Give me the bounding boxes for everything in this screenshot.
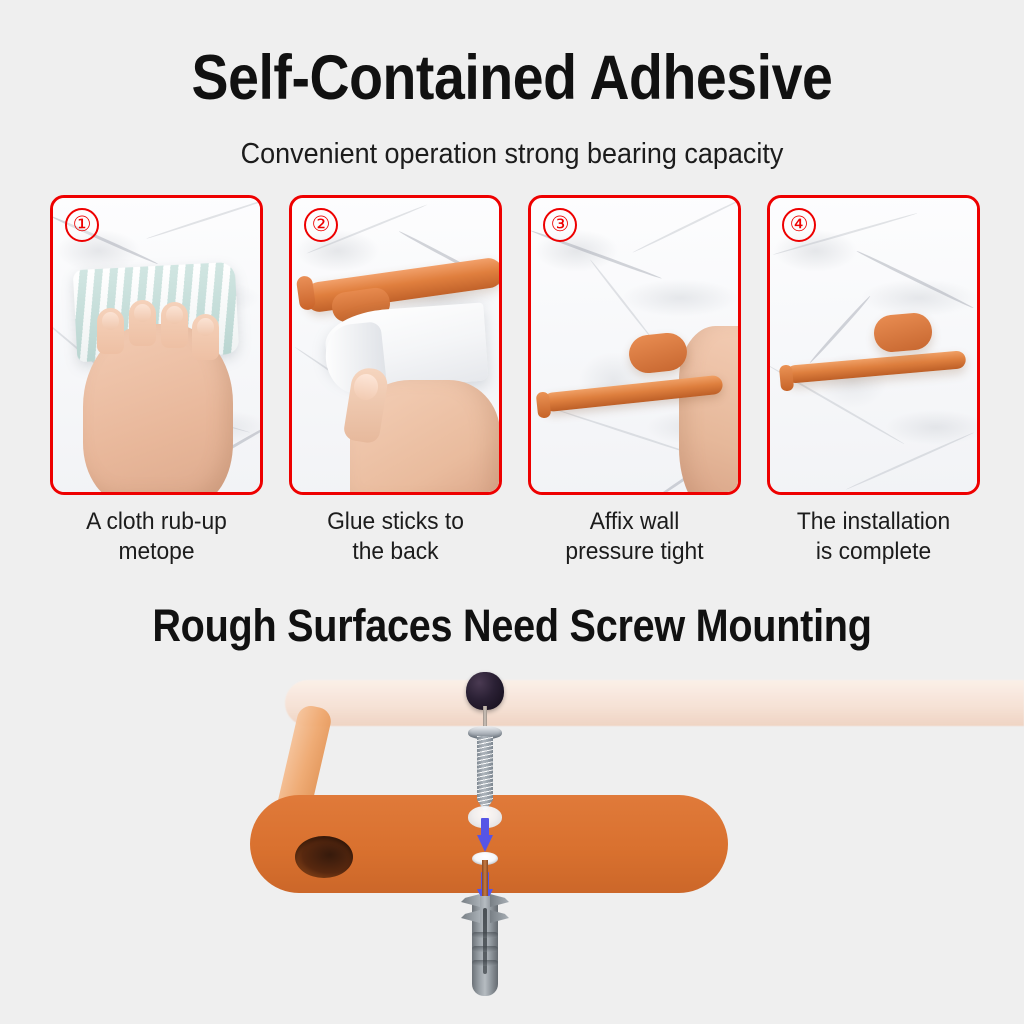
rod-end-cap xyxy=(779,364,794,391)
hand-graphic xyxy=(679,326,741,495)
screw-shaft xyxy=(477,736,493,812)
caption-line: is complete xyxy=(772,537,974,567)
step-badge-2: ② xyxy=(304,208,338,242)
mounting-hole xyxy=(295,836,353,878)
screw-mounting-heading: Rough Surfaces Need Screw Mounting xyxy=(61,598,962,654)
page-subtitle: Convenient operation strong bearing capa… xyxy=(36,135,988,173)
wall-anchor xyxy=(462,888,508,998)
step-badge-1: ① xyxy=(65,208,99,242)
towel-bar-rod xyxy=(285,680,1024,726)
step-panel-2: ② xyxy=(289,195,502,495)
step-panel-4: ④ xyxy=(767,195,980,495)
decorative-cap xyxy=(466,672,504,710)
page-title: Self-Contained Adhesive xyxy=(61,42,962,114)
rod-end-cap xyxy=(536,391,552,418)
step-caption-4: The installation is complete xyxy=(772,507,974,567)
caption-line: The installation xyxy=(772,507,974,537)
infographic-page: Self-Contained Adhesive Convenient opera… xyxy=(0,0,1024,1024)
step-caption-row: A cloth rub-up metope Glue sticks to the… xyxy=(50,507,980,573)
caption-line: the back xyxy=(294,537,496,567)
caption-line: Affix wall xyxy=(533,507,735,537)
step-panel-strip: ① ② xyxy=(50,195,980,495)
hand-graphic xyxy=(83,324,233,495)
step-caption-1: A cloth rub-up metope xyxy=(55,507,257,567)
step-caption-2: Glue sticks to the back xyxy=(294,507,496,567)
caption-line: Glue sticks to xyxy=(294,507,496,537)
step-badge-4: ④ xyxy=(782,208,816,242)
caption-line: pressure tight xyxy=(533,537,735,567)
caption-line: A cloth rub-up xyxy=(55,507,257,537)
marble-wall-background xyxy=(770,198,977,492)
step-panel-1: ① xyxy=(50,195,263,495)
step-panel-3: ③ xyxy=(528,195,741,495)
step-badge-3: ③ xyxy=(543,208,577,242)
down-arrow-icon xyxy=(477,818,493,852)
caption-line: metope xyxy=(55,537,257,567)
step-caption-3: Affix wall pressure tight xyxy=(533,507,735,567)
